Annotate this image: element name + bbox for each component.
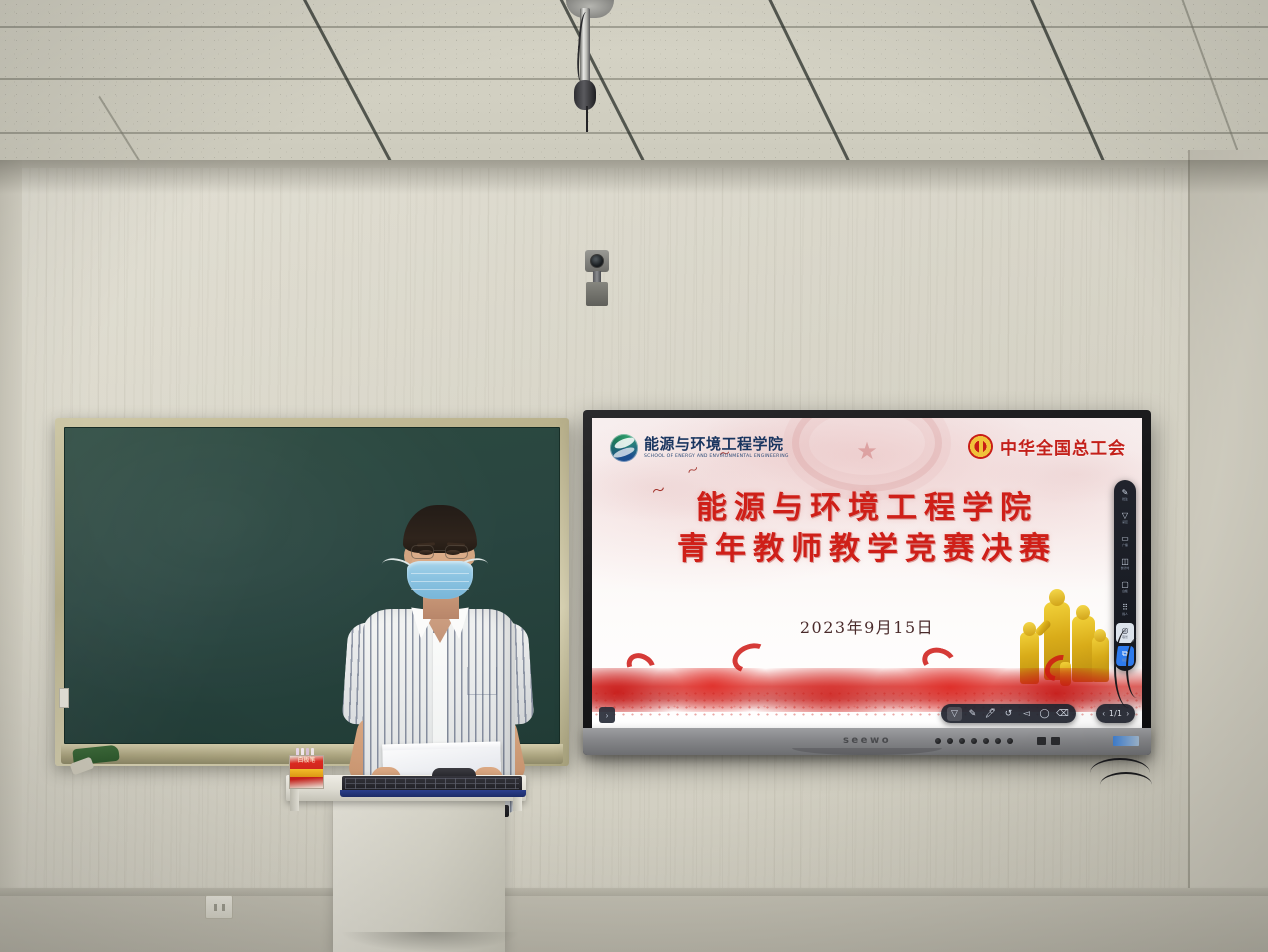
toolbar-annotate-button[interactable]: ✎ 批注 xyxy=(1116,485,1134,505)
school-name-cn: 能源与环境工程学院 xyxy=(644,437,789,453)
mask-pleat xyxy=(411,589,469,590)
broadcast-icon: ▭ xyxy=(1121,535,1129,543)
floor-shadow xyxy=(340,932,520,952)
glasses-bridge xyxy=(434,550,445,551)
acftu-emblem-icon xyxy=(968,434,993,459)
wall-outlet xyxy=(205,895,233,919)
bezel-sticker xyxy=(1113,736,1139,746)
annotation-toolbar[interactable]: ▽ ✎ 🖊 ↺ ◅ ◯ xyxy=(941,704,1076,723)
laser-pointer-icon: ◅ xyxy=(1023,709,1030,718)
star-icon: ★ xyxy=(856,440,878,464)
cable xyxy=(1100,772,1152,798)
classroom-photo: 白板笔 ★ 〜 〜 〜 能源与环境工程学院 SCHOOL OF ENERGY A… xyxy=(0,0,1268,952)
toolbar-annotate-label: 批注 xyxy=(1122,498,1128,501)
toolbar-broadcast-button[interactable]: ▭ 广播 xyxy=(1116,531,1134,551)
eraser-icon: ⌫ xyxy=(1056,709,1069,718)
microphone-wire xyxy=(586,106,588,132)
annotation-pen-button[interactable]: ✎ xyxy=(965,707,980,721)
lens-left xyxy=(411,545,434,559)
bezel-button[interactable] xyxy=(959,738,965,744)
keyboard-base xyxy=(340,790,526,797)
face-mask xyxy=(407,561,473,599)
toolbar-whiteboard-button[interactable]: ▢ 白板 xyxy=(1116,577,1134,597)
toolbar-countdown-label: 倒计时 xyxy=(1121,567,1129,570)
bezel-button[interactable] xyxy=(995,738,1001,744)
bezel-button[interactable] xyxy=(983,738,989,744)
highlighter-icon: 🖊 xyxy=(985,709,996,718)
toolbar-random-pick-button[interactable]: ⠿ 挑人 xyxy=(1116,600,1134,620)
annotation-eraser-button[interactable]: ⌫ xyxy=(1055,707,1070,721)
usb-port xyxy=(1037,737,1046,745)
keyboard-keys[interactable] xyxy=(345,778,519,789)
marker-box-label: 白板笔 xyxy=(290,758,323,764)
wall-top-shadow xyxy=(0,160,1268,194)
expand-panel-button[interactable]: › xyxy=(599,707,615,723)
whiteboard-icon: ▢ xyxy=(1121,581,1129,589)
marker-box: 白板笔 xyxy=(289,755,324,789)
random-pick-icon: ⠿ xyxy=(1122,604,1128,612)
toolbar-countdown-button[interactable]: ◫ 倒计时 xyxy=(1116,554,1134,574)
camera-icon: ◎ xyxy=(1122,627,1129,635)
annotation-cursor-button[interactable]: ▽ xyxy=(947,707,962,721)
eyeglasses xyxy=(411,545,469,561)
toolbar-cast-button[interactable]: ⧉ 投屏 xyxy=(1116,646,1134,666)
ceiling-grid-line xyxy=(0,132,1268,134)
annotation-undo-button[interactable]: ↺ xyxy=(1001,707,1016,721)
shade-icon: ▽ xyxy=(1122,512,1128,520)
countdown-icon: ◫ xyxy=(1121,558,1129,566)
annotation-shape-button[interactable]: ◯ xyxy=(1037,707,1052,721)
chevron-right-icon[interactable]: › xyxy=(1126,710,1129,718)
camera-lens-icon xyxy=(590,254,604,268)
toolbar-shade-label: 蒙层 xyxy=(1122,521,1128,524)
acftu-name: 中华全国总工会 xyxy=(1000,434,1126,459)
title-line-1: 能源与环境工程学院 xyxy=(592,488,1142,529)
chevron-right-icon: › xyxy=(606,711,609,720)
bezel-button[interactable] xyxy=(971,738,977,744)
camera-wall-mount xyxy=(586,282,608,306)
toolbar-camera-button[interactable]: ◎ 取景 xyxy=(1116,623,1134,643)
cast-icon: ⧉ xyxy=(1122,650,1128,658)
mask-pleat xyxy=(411,581,469,582)
school-name-en: SCHOOL OF ENERGY AND ENVIRONMENTAL ENGIN… xyxy=(644,454,789,459)
bezel-button[interactable] xyxy=(935,738,941,744)
presentation-slide[interactable]: ★ 〜 〜 〜 能源与环境工程学院 SCHOOL OF ENERGY AND E… xyxy=(592,418,1142,730)
lens-right xyxy=(445,545,468,559)
blackboard-label xyxy=(59,688,69,708)
hdmi-port xyxy=(1051,737,1060,745)
bezel-ports xyxy=(1037,737,1060,745)
cursor-icon: ▽ xyxy=(951,709,958,718)
baseboard-shadow xyxy=(0,886,1268,896)
wall-right-return xyxy=(1188,150,1268,952)
interactive-flat-panel[interactable]: ★ 〜 〜 〜 能源与环境工程学院 SCHOOL OF ENERGY AND E… xyxy=(583,410,1151,755)
toolbar-whiteboard-label: 白板 xyxy=(1122,590,1128,593)
bezel-physical-buttons[interactable] xyxy=(935,738,1013,744)
camera-head xyxy=(585,250,609,272)
acftu-logo: 中华全国总工会 xyxy=(968,434,1126,459)
school-logo-mark-icon xyxy=(610,434,638,462)
toolbar-broadcast-label: 广播 xyxy=(1122,544,1128,547)
undo-icon: ↺ xyxy=(1005,709,1013,718)
page-indicator: 1/1 xyxy=(1109,709,1122,718)
ceiling-grid-line xyxy=(0,78,1268,80)
toolbar-cast-label: 投屏 xyxy=(1122,659,1128,662)
mask-pleat xyxy=(411,573,469,574)
display-screen[interactable]: ★ 〜 〜 〜 能源与环境工程学院 SCHOOL OF ENERGY AND E… xyxy=(592,418,1142,730)
display-bottom-bezel: seewo xyxy=(583,728,1151,755)
annotation-laser-button[interactable]: ◅ xyxy=(1019,707,1034,721)
school-logo: 能源与环境工程学院 SCHOOL OF ENERGY AND ENVIRONME… xyxy=(610,434,789,462)
shirt-pocket xyxy=(467,667,497,695)
shape-icon: ◯ xyxy=(1039,709,1049,718)
display-cables-lower xyxy=(1090,752,1180,802)
toolbar-shade-button[interactable]: ▽ 蒙层 xyxy=(1116,508,1134,528)
wall-left-edge xyxy=(0,160,22,952)
slide-pager[interactable]: ‹ 1/1 › xyxy=(1096,704,1135,723)
ceiling xyxy=(0,0,1268,168)
bezel-button[interactable] xyxy=(1007,738,1013,744)
floor xyxy=(0,888,1268,952)
bezel-button[interactable] xyxy=(947,738,953,744)
pen-icon: ✎ xyxy=(969,709,977,718)
classroom-camera xyxy=(585,250,609,308)
tray-bracket xyxy=(290,789,299,811)
marker-box-band xyxy=(290,769,323,777)
annotation-highlighter-button[interactable]: 🖊 xyxy=(983,707,998,721)
display-side-toolbar[interactable]: ✎ 批注 ▽ 蒙层 ▭ 广播 ◫ 倒计时 xyxy=(1114,480,1136,671)
pen-icon: ✎ xyxy=(1122,489,1129,497)
podium xyxy=(333,800,505,952)
display-brand-label: seewo xyxy=(843,735,891,746)
chevron-left-icon[interactable]: ‹ xyxy=(1102,710,1105,718)
slide-title: 能源与环境工程学院 青年教师教学竞赛决赛 xyxy=(592,488,1142,570)
ceiling-grid-line xyxy=(0,26,1268,28)
toolbar-random-pick-label: 挑人 xyxy=(1122,613,1128,616)
toolbar-camera-label: 取景 xyxy=(1122,636,1128,639)
statue-head xyxy=(1049,589,1065,606)
statue-head xyxy=(1076,605,1090,620)
ceiling-microphone xyxy=(574,80,596,110)
